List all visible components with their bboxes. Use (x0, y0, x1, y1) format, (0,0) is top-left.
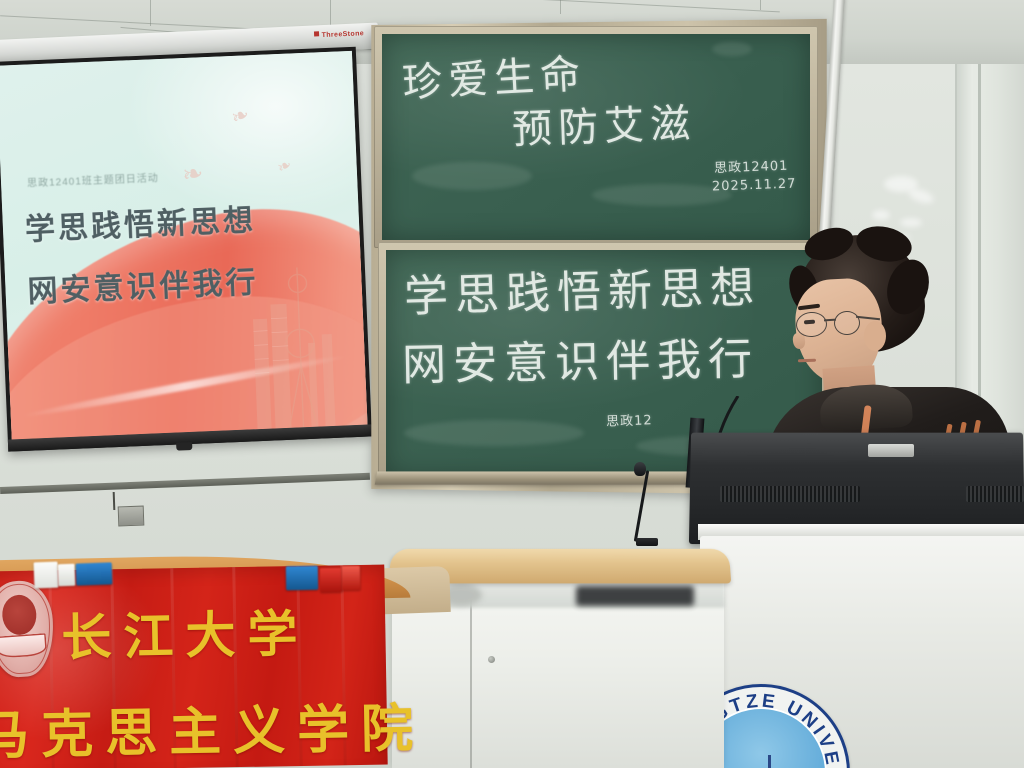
ear (864, 321, 886, 351)
blackboard-top-panel: 珍爱生命 预防艾滋 思政12401 2025.11.27 (382, 34, 810, 240)
brand-square-icon (314, 31, 319, 36)
monitor-label-plate (868, 444, 914, 457)
promo-box-red[interactable] (342, 566, 360, 590)
blackboard-top-line-2: 预防艾滋 (511, 91, 697, 155)
projection-screen[interactable]: ❧ ❧ ❧ 思政12401班主题团日活动 学思践悟新思想 网安意识伴我行 (0, 47, 372, 452)
promo-box-white[interactable] (34, 562, 59, 589)
wall-mark (900, 218, 922, 227)
promo-box-blue[interactable] (286, 566, 318, 591)
banner-line-2: 马克思主义学院 (0, 686, 426, 768)
classroom-photo-scene: ThreeStone (0, 0, 1024, 768)
mouth (798, 359, 816, 363)
promo-box-red[interactable] (320, 568, 342, 592)
promo-box-white[interactable] (58, 564, 76, 587)
ceiling-tile-seam (150, 0, 151, 26)
projector-brand-label: ThreeStone (314, 29, 364, 39)
projection-screen-surface: ❧ ❧ ❧ 思政12401班主题团日活动 学思践悟新思想 网安意识伴我行 (0, 51, 368, 440)
monitor-vent-grille (720, 486, 860, 502)
gooseneck-mic-base (636, 538, 658, 546)
swallow-icon: ❧ (180, 157, 206, 191)
center-podium-door-seam (470, 600, 472, 768)
promo-box-blue[interactable] (76, 562, 113, 585)
promo-box-label (78, 574, 110, 575)
ceiling-tile-seam (760, 0, 761, 10)
blackboard-top-signature-class: 思政12401 (714, 155, 789, 177)
podium-object-dark (576, 586, 694, 606)
swallow-icon: ❧ (274, 154, 296, 179)
wall-junction-box (118, 506, 145, 527)
projection-screen-pull-tab[interactable] (176, 442, 192, 451)
ceiling-tile-seam (420, 0, 780, 12)
gooseneck-mic-head[interactable] (634, 462, 646, 476)
chalk-smear (412, 162, 532, 190)
wall-mark (872, 210, 890, 220)
ceiling-tile-seam (560, 0, 561, 14)
blackboard-top-signature-date: 2025.11.27 (712, 177, 797, 195)
red-table-banner: 长江大学 马克思主义学院 (0, 565, 388, 768)
chalk-smear (592, 184, 732, 206)
blackboard-bottom-signature: 思政12 (606, 409, 653, 430)
presentation-slide: ❧ ❧ ❧ 思政12401班主题团日活动 学思践悟新思想 网安意识伴我行 (0, 51, 368, 440)
blackboard-bottom-line-2: 网安意识伴我行 (401, 323, 759, 393)
monitor-vent-grille (966, 486, 1024, 502)
center-podium-screw (488, 656, 495, 663)
chalk-smear (712, 42, 752, 56)
banner-line-1: 长江大学 (61, 594, 310, 670)
swallow-icon: ❧ (227, 101, 253, 131)
blackboard-bottom-line-1: 学思践悟新思想 (403, 251, 762, 324)
slide-kicker-text: 思政12401班主题团日活动 (27, 169, 159, 190)
chalk-smear (404, 420, 584, 446)
